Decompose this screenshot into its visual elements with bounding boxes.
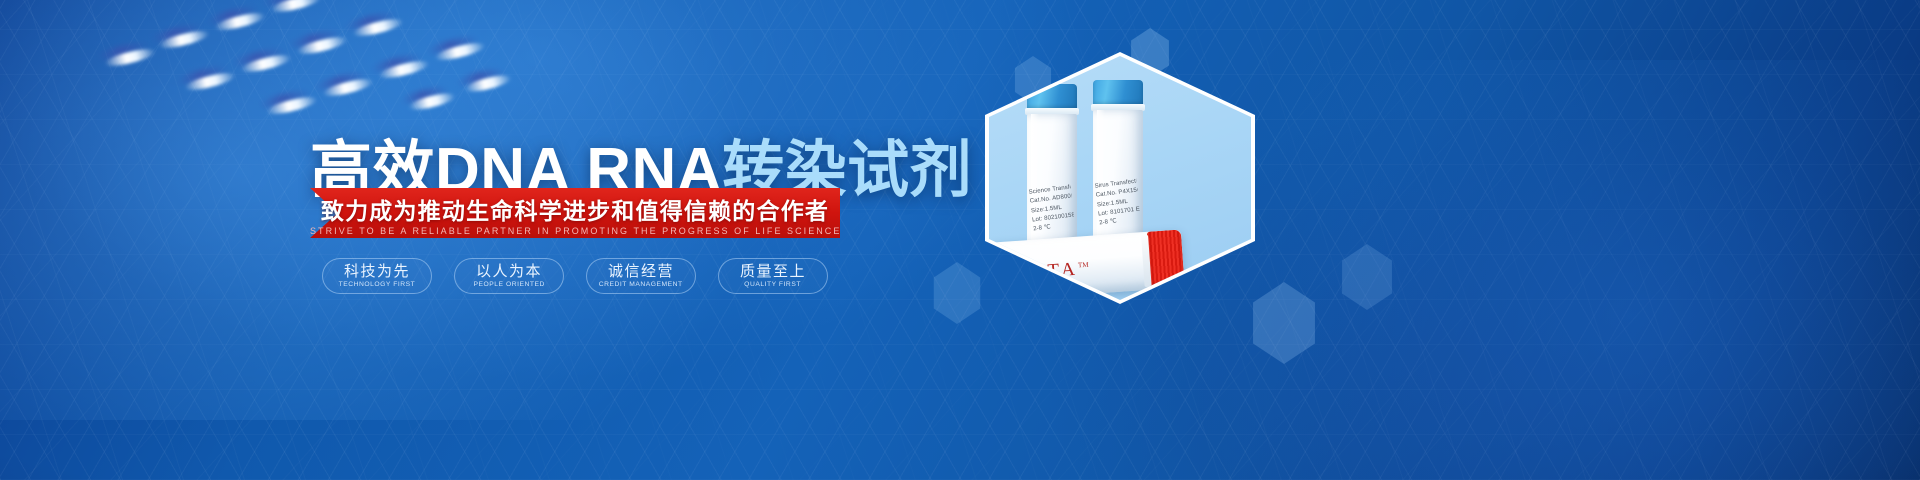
glow-bottom-right	[1180, 60, 1920, 480]
product-vial-horizontal: ZETATM L I F E	[991, 229, 1185, 300]
value-badge-people-oriented[interactable]: 以人为本 PEOPLE ORIENTED	[454, 258, 564, 294]
vial-label-left: Science TransfectionCat.No. AD8005Size:1…	[1028, 184, 1075, 235]
tagline-ribbon	[310, 188, 840, 238]
product-vial-right: Sirus TransfectionCat.No. P4X1561Size:1.…	[1093, 80, 1143, 250]
badge-label-cn: 质量至上	[740, 264, 806, 280]
vial-label-right: Sirus TransfectionCat.No. P4X1561Size:1.…	[1094, 178, 1141, 229]
hexagon-decoration-lower-right	[1248, 282, 1320, 364]
value-badge-credit-management[interactable]: 诚信经营 CREDIT MANAGEMENT	[586, 258, 696, 294]
banner-content: 高效DNA RNA转染试剂 致力成为推动生命科学进步和值得信赖的合作者 STRI…	[0, 0, 980, 480]
brand-subtitle: L I F E	[1021, 282, 1060, 291]
badge-label-cn: 科技为先	[344, 264, 410, 280]
value-badge-list: 科技为先 TECHNOLOGY FIRST 以人为本 PEOPLE ORIENT…	[322, 258, 828, 294]
value-badge-technology-first[interactable]: 科技为先 TECHNOLOGY FIRST	[322, 258, 432, 294]
vial-cap-blue	[1027, 84, 1077, 110]
badge-label-en: PEOPLE ORIENTED	[473, 282, 544, 289]
badge-label-en: QUALITY FIRST	[745, 282, 802, 289]
hexagon-decoration-far-right	[1338, 244, 1396, 310]
hexagon-inner-fill: Science TransfectionCat.No. AD8005Size:1…	[989, 56, 1251, 300]
promo-banner: 高效DNA RNA转染试剂 致力成为推动生命科学进步和值得信赖的合作者 STRI…	[0, 0, 1920, 480]
product-showcase: Science TransfectionCat.No. AD8005Size:1…	[985, 52, 1255, 304]
badge-label-en: TECHNOLOGY FIRST	[339, 282, 416, 289]
badge-label-cn: 诚信经营	[608, 264, 674, 280]
brand-trademark: TM	[1078, 261, 1089, 270]
vial-body: Science TransfectionCat.No. AD8005Size:1…	[1027, 114, 1077, 250]
vial-cap-blue	[1093, 80, 1143, 106]
product-vial-left: Science TransfectionCat.No. AD8005Size:1…	[1027, 84, 1077, 250]
vial-body: Sirus TransfectionCat.No. P4X1561Size:1.…	[1093, 110, 1143, 250]
badge-label-cn: 以人为本	[476, 264, 542, 280]
value-badge-quality-first[interactable]: 质量至上 QUALITY FIRST	[718, 258, 828, 294]
badge-label-en: CREDIT MANAGEMENT	[599, 282, 683, 289]
